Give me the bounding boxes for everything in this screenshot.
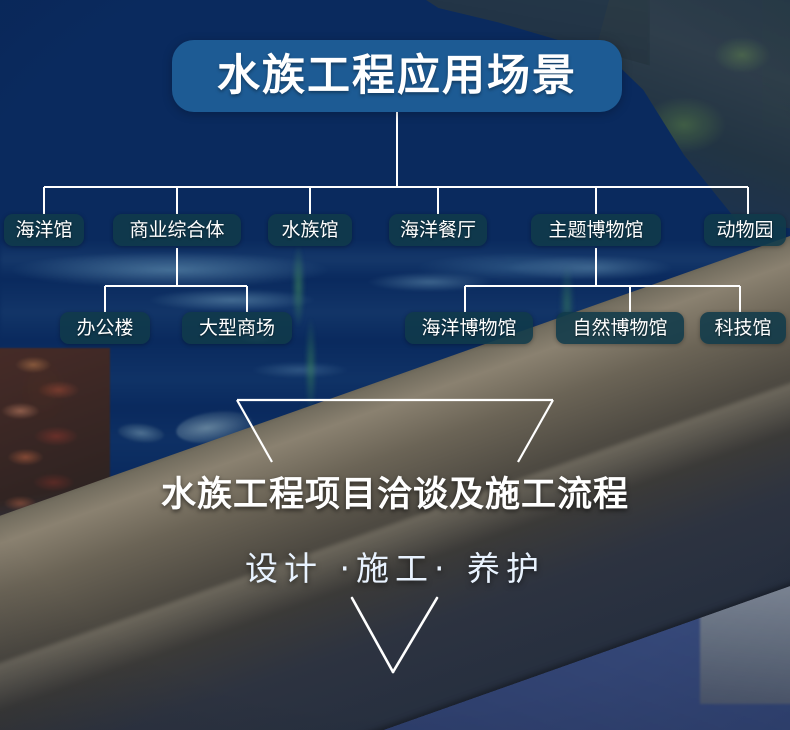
node-shangye-zonghe-ti[interactable]: 商业综合体 xyxy=(113,214,241,246)
page-title: 水族工程应用场景 xyxy=(217,55,577,98)
connector-arrow-left xyxy=(352,598,393,672)
connector-funnel-right xyxy=(518,400,553,462)
node-haiyang-bowuguan[interactable]: 海洋博物馆 xyxy=(405,312,533,344)
node-label: 办公楼 xyxy=(76,319,133,338)
node-bangonglou[interactable]: 办公楼 xyxy=(60,312,150,344)
page-title-box: 水族工程应用场景 xyxy=(172,40,622,112)
node-haiyang-canting[interactable]: 海洋餐厅 xyxy=(389,214,487,246)
node-dongwuyuan[interactable]: 动物园 xyxy=(704,214,786,246)
connector-funnel-left xyxy=(237,400,272,462)
node-kejiguan[interactable]: 科技馆 xyxy=(700,312,786,344)
node-label: 海洋馆 xyxy=(15,221,72,240)
footer-heading: 水族工程项目洽谈及施工流程 xyxy=(0,466,790,517)
node-label: 海洋博物馆 xyxy=(421,319,516,338)
node-label: 动物园 xyxy=(716,221,773,240)
node-daxing-shangchang[interactable]: 大型商场 xyxy=(182,312,292,344)
connector-arrow-right xyxy=(393,598,437,672)
node-shuizuguan[interactable]: 水族馆 xyxy=(268,214,352,246)
footer-subheading: 设计 ·施工· 养护 xyxy=(0,542,790,590)
node-zhuti-bowuguan[interactable]: 主题博物馆 xyxy=(531,214,661,246)
poster-canvas: 水族工程应用场景 海洋馆 商业综合体 水族馆 海洋餐厅 主题博物馆 动物园 办公… xyxy=(0,0,790,730)
node-haiyangguan[interactable]: 海洋馆 xyxy=(4,214,84,246)
node-label: 主题博物馆 xyxy=(548,221,643,240)
node-label: 海洋餐厅 xyxy=(400,221,476,240)
node-label: 水族馆 xyxy=(281,221,338,240)
node-label: 科技馆 xyxy=(714,319,771,338)
node-label: 商业综合体 xyxy=(129,221,224,240)
node-label: 自然博物馆 xyxy=(572,319,667,338)
node-ziran-bowuguan[interactable]: 自然博物馆 xyxy=(556,312,684,344)
node-label: 大型商场 xyxy=(199,319,275,338)
